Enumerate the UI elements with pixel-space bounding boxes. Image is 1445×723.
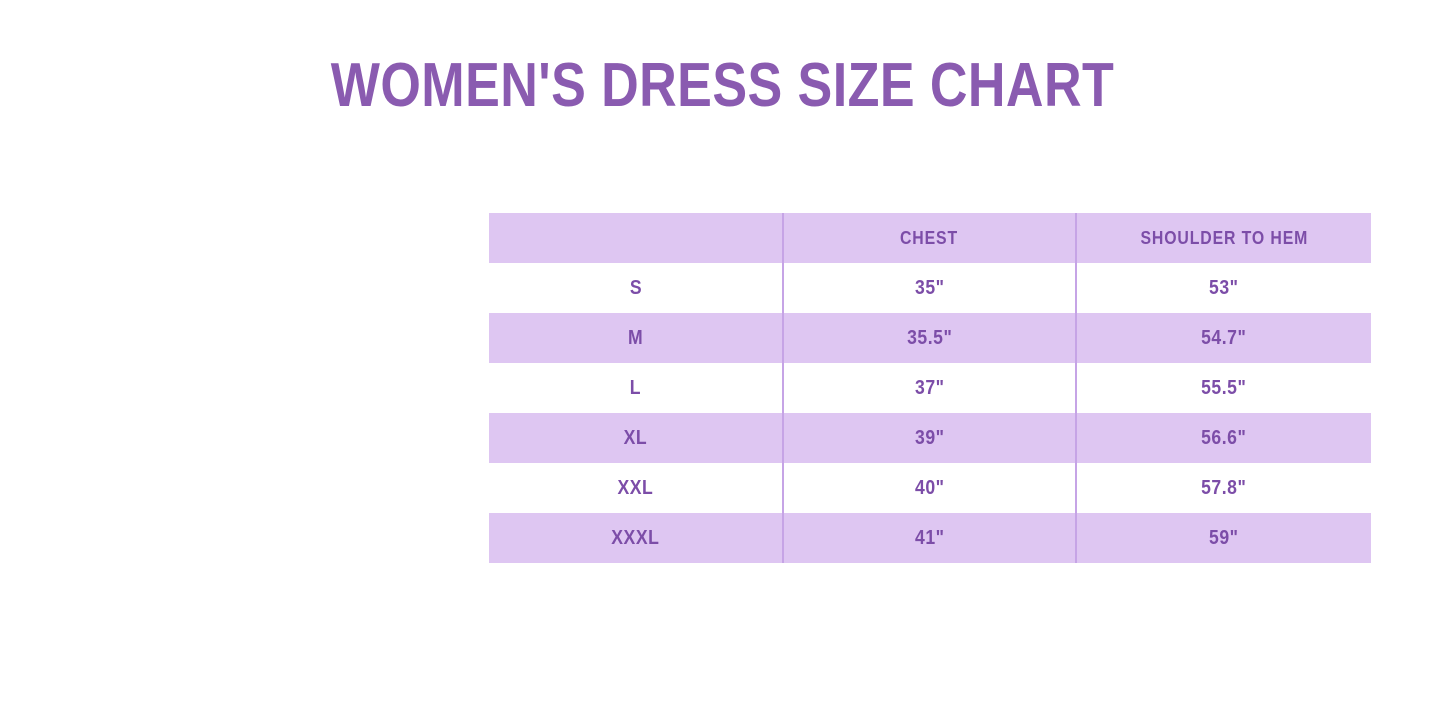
cell-size-value: L (630, 377, 641, 400)
table-row: M 35.5" 54.7" (489, 313, 1371, 363)
column-header-shoulder-to-hem: SHOULDER TO HEM (1076, 213, 1371, 263)
column-header-chest-label: CHEST (900, 228, 958, 249)
cell-shoulder-to-hem-value: 55.5" (1201, 377, 1246, 400)
cell-size-value: S (629, 277, 641, 300)
table-header: CHEST SHOULDER TO HEM (489, 213, 1371, 263)
cell-shoulder-to-hem: 56.6" (1076, 413, 1371, 463)
table-body: S 35" 53" M 35.5" (489, 263, 1371, 563)
cell-chest: 37" (783, 363, 1076, 413)
cell-chest-value: 35" (915, 277, 945, 300)
cell-size: XXXL (489, 513, 783, 563)
cell-chest-value: 39" (915, 427, 945, 450)
column-header-shoulder-to-hem-label: SHOULDER TO HEM (1140, 228, 1308, 249)
cell-chest-value: 37" (915, 377, 945, 400)
cell-shoulder-to-hem-value: 54.7" (1201, 327, 1246, 350)
cell-shoulder-to-hem-value: 59" (1209, 527, 1239, 550)
size-chart-table: CHEST SHOULDER TO HEM S 35" 53" (489, 213, 1371, 563)
cell-size: M (489, 313, 783, 363)
table-row: XXL 40" 57.8" (489, 463, 1371, 513)
cell-size: XXL (489, 463, 783, 513)
cell-shoulder-to-hem: 55.5" (1076, 363, 1371, 413)
cell-shoulder-to-hem: 53" (1076, 263, 1371, 313)
cell-size-value: M (628, 327, 643, 350)
cell-chest-value: 40" (915, 477, 945, 500)
cell-chest-value: 41" (915, 527, 945, 550)
cell-shoulder-to-hem: 54.7" (1076, 313, 1371, 363)
cell-size: XL (489, 413, 783, 463)
cell-chest-value: 35.5" (907, 327, 952, 350)
cell-size: S (489, 263, 783, 313)
cell-chest: 40" (783, 463, 1076, 513)
column-header-size (489, 213, 783, 263)
cell-chest: 41" (783, 513, 1076, 563)
table-row: L 37" 55.5" (489, 363, 1371, 413)
table-header-row: CHEST SHOULDER TO HEM (489, 213, 1371, 263)
column-header-chest: CHEST (783, 213, 1076, 263)
cell-size-value: XXL (618, 477, 654, 500)
size-chart-table-container: CHEST SHOULDER TO HEM S 35" 53" (489, 213, 1371, 563)
cell-shoulder-to-hem: 59" (1076, 513, 1371, 563)
cell-shoulder-to-hem: 57.8" (1076, 463, 1371, 513)
cell-chest: 35.5" (783, 313, 1076, 363)
table-row: S 35" 53" (489, 263, 1371, 313)
cell-size-value: XXXL (611, 527, 659, 550)
table-row: XXXL 41" 59" (489, 513, 1371, 563)
cell-shoulder-to-hem-value: 57.8" (1201, 477, 1246, 500)
cell-shoulder-to-hem-value: 56.6" (1201, 427, 1246, 450)
page-title: WOMEN'S DRESS SIZE CHART (116, 53, 1330, 118)
table-row: XL 39" 56.6" (489, 413, 1371, 463)
cell-shoulder-to-hem-value: 53" (1209, 277, 1239, 300)
cell-size: L (489, 363, 783, 413)
cell-chest: 35" (783, 263, 1076, 313)
size-chart-page: WOMEN'S DRESS SIZE CHART CHEST SHOULDER … (0, 0, 1445, 723)
cell-size-value: XL (624, 427, 648, 450)
cell-chest: 39" (783, 413, 1076, 463)
